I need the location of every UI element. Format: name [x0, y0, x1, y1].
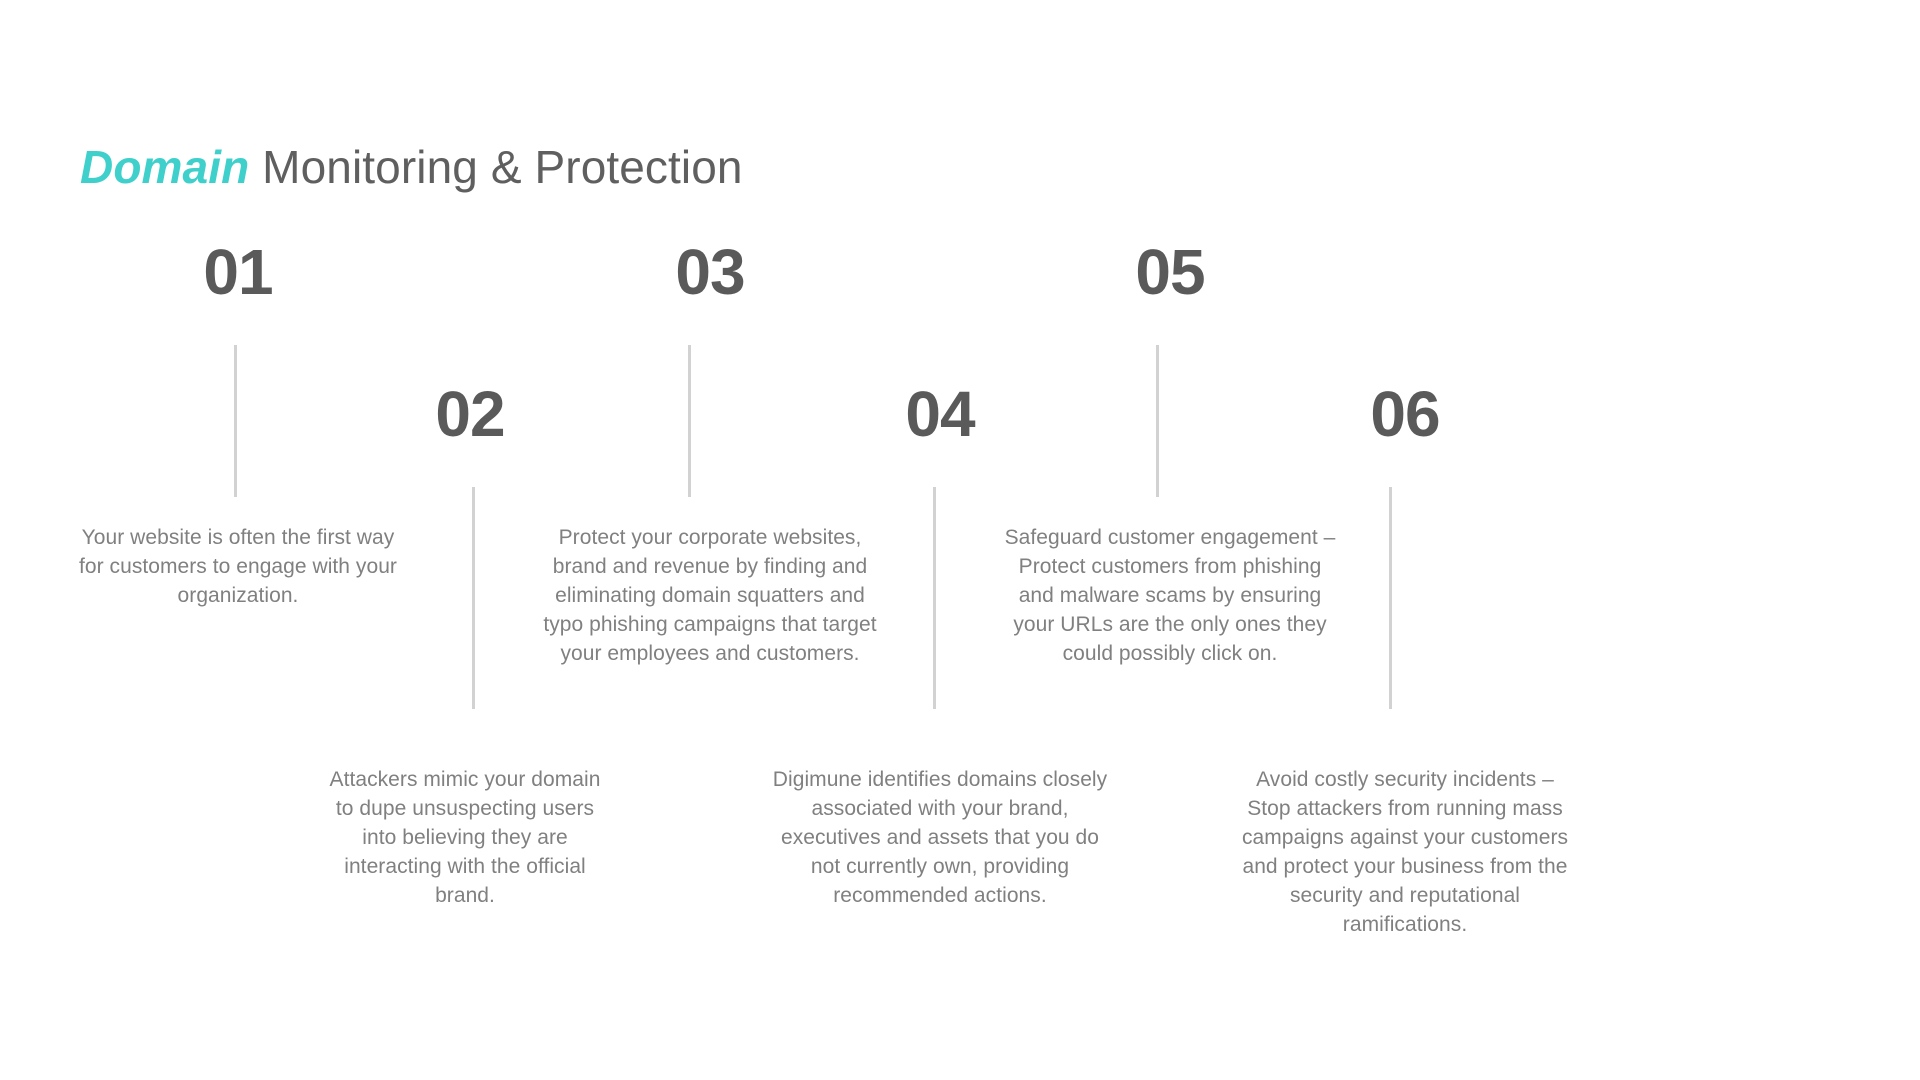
step-connector-line-06 [1389, 487, 1392, 709]
step-connector-line-04 [933, 487, 936, 709]
step-item-06: 06 Avoid costly security incidents – Sto… [1245, 0, 1545, 1080]
step-connector-line-01 [234, 345, 237, 497]
step-connector-line-03 [688, 345, 691, 497]
step-connector-line-02 [472, 487, 475, 709]
step-connector-line-05 [1156, 345, 1159, 497]
step-number-06: 06 [1235, 382, 1575, 446]
steps-area: 01 Your website is often the first way f… [0, 0, 1920, 1080]
step-description-06: Avoid costly security incidents – Stop a… [1235, 766, 1575, 940]
